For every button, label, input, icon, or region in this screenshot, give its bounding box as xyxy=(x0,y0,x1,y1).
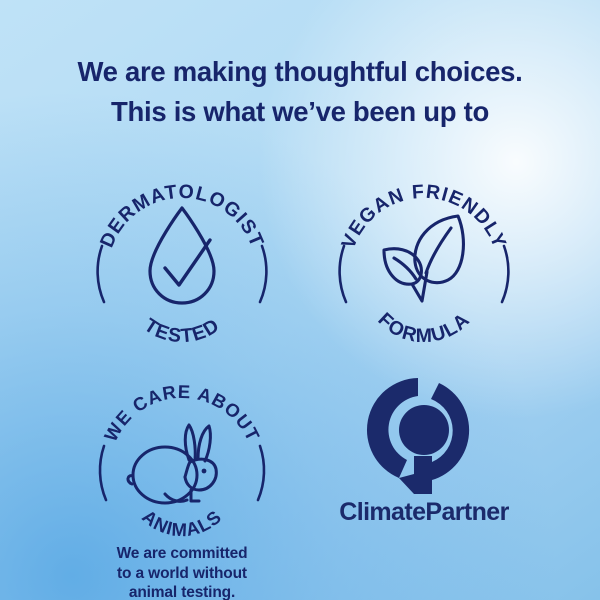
animal-testing-caption: We are committed to a world without anim… xyxy=(58,544,306,600)
headline-line-2: This is what we’ve been up to xyxy=(0,92,600,132)
caption-line-2: to a world without xyxy=(58,564,306,584)
badge-left-arc xyxy=(98,246,104,302)
badge-right-arc xyxy=(258,446,264,500)
we-care-about-animals-badge-svg: WE CARE ABOUT ANIMALS xyxy=(58,370,306,545)
badge-we-care-about-animals: WE CARE ABOUT ANIMALS xyxy=(58,370,306,570)
two-leaves-icon xyxy=(384,216,463,301)
badge-arc-text-top: WE CARE ABOUT xyxy=(100,381,264,445)
badge-arc-text-bottom: TESTED xyxy=(140,314,224,343)
badge-left-arc xyxy=(100,446,106,500)
badge-arc-text-bottom: FORMULA xyxy=(374,308,475,343)
badge-grid: DERMATOLOGIST TESTED xyxy=(0,168,600,600)
climatepartner-logo-icon xyxy=(300,370,548,500)
caption-line-1: We are committed xyxy=(58,544,306,564)
badge-climate-partner: ClimatePartner xyxy=(300,370,548,570)
badge-left-arc xyxy=(340,246,346,302)
water-droplet-check-icon xyxy=(150,208,214,303)
climatepartner-wordmark: ClimatePartner xyxy=(300,498,548,527)
headline-line-1: We are making thoughtful choices. xyxy=(0,52,600,92)
badge-right-arc xyxy=(260,246,266,302)
dermatologist-tested-badge-svg: DERMATOLOGIST TESTED xyxy=(58,168,306,343)
rabbit-icon xyxy=(128,425,216,503)
badge-vegan-friendly-formula: VEGAN FRIENDLY FORMULA xyxy=(300,168,548,368)
badge-right-arc xyxy=(502,246,508,302)
promo-graphic: We are making thoughtful choices. This i… xyxy=(0,0,600,600)
page-title: We are making thoughtful choices. This i… xyxy=(0,52,600,132)
badge-arc-text-top: VEGAN FRIENDLY xyxy=(337,181,510,252)
vegan-friendly-formula-badge-svg: VEGAN FRIENDLY FORMULA xyxy=(300,168,548,343)
caption-line-3: animal testing. xyxy=(58,583,306,600)
badge-arc-text-bottom: ANIMALS xyxy=(138,506,225,541)
badge-arc-text-top: DERMATOLOGIST xyxy=(96,181,268,251)
badge-dermatologist-tested: DERMATOLOGIST TESTED xyxy=(58,168,306,368)
